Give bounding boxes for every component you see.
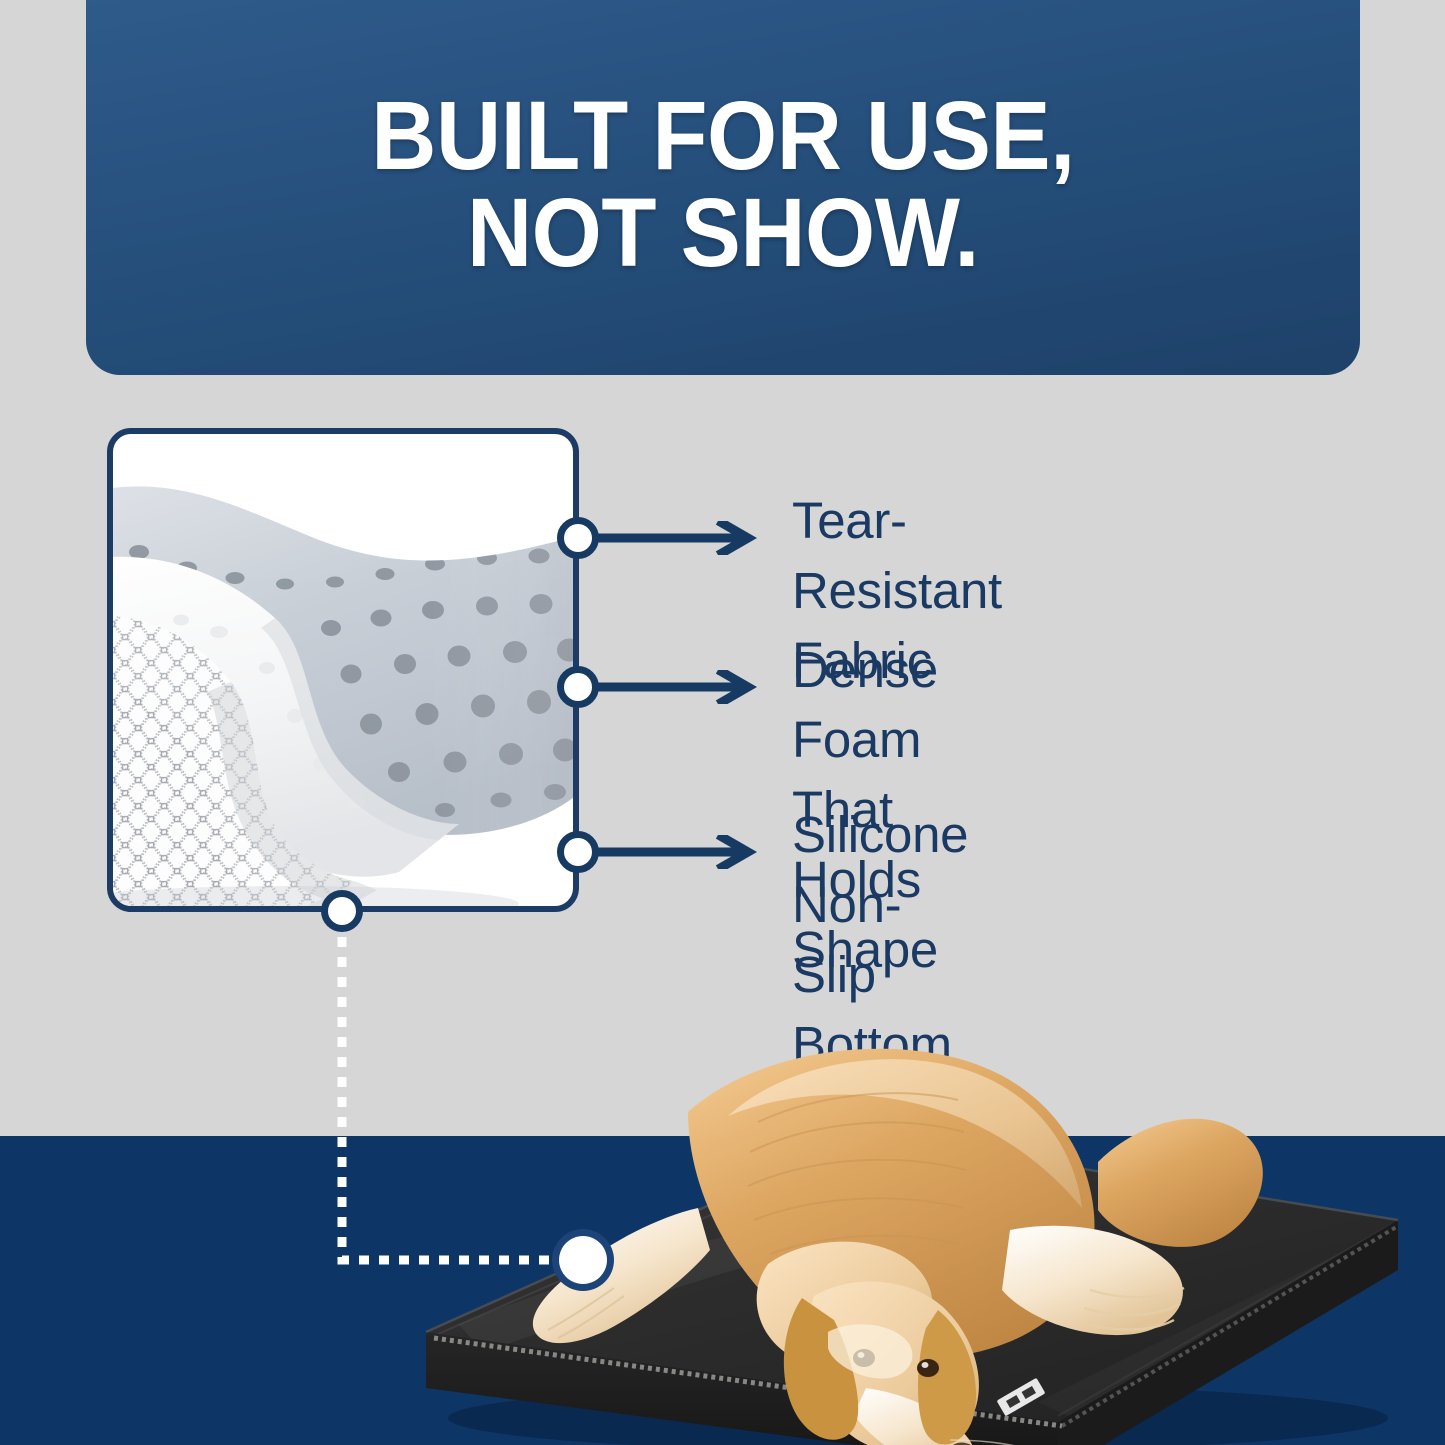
card-bottom-connector-icon xyxy=(321,890,363,932)
foam-layers-card xyxy=(107,428,579,912)
feature-bullet-icon xyxy=(557,666,599,708)
feature-bullet-icon xyxy=(557,831,599,873)
infographic-canvas: BUILT FOR USE, NOT SHOW. xyxy=(0,0,1445,1445)
arrow-right-icon xyxy=(590,835,770,869)
page-title: BUILT FOR USE, NOT SHOW. xyxy=(131,88,1316,280)
foam-layers-image xyxy=(113,434,573,906)
header-banner: BUILT FOR USE, NOT SHOW. xyxy=(86,0,1360,375)
foam-cutaway-illustration xyxy=(113,442,573,906)
feature-bullet-icon xyxy=(557,517,599,559)
arrow-right-icon xyxy=(590,670,770,704)
dog-eye-right xyxy=(917,1359,939,1377)
bed-connector-icon xyxy=(559,1236,607,1284)
arrow-right-icon xyxy=(590,521,770,555)
